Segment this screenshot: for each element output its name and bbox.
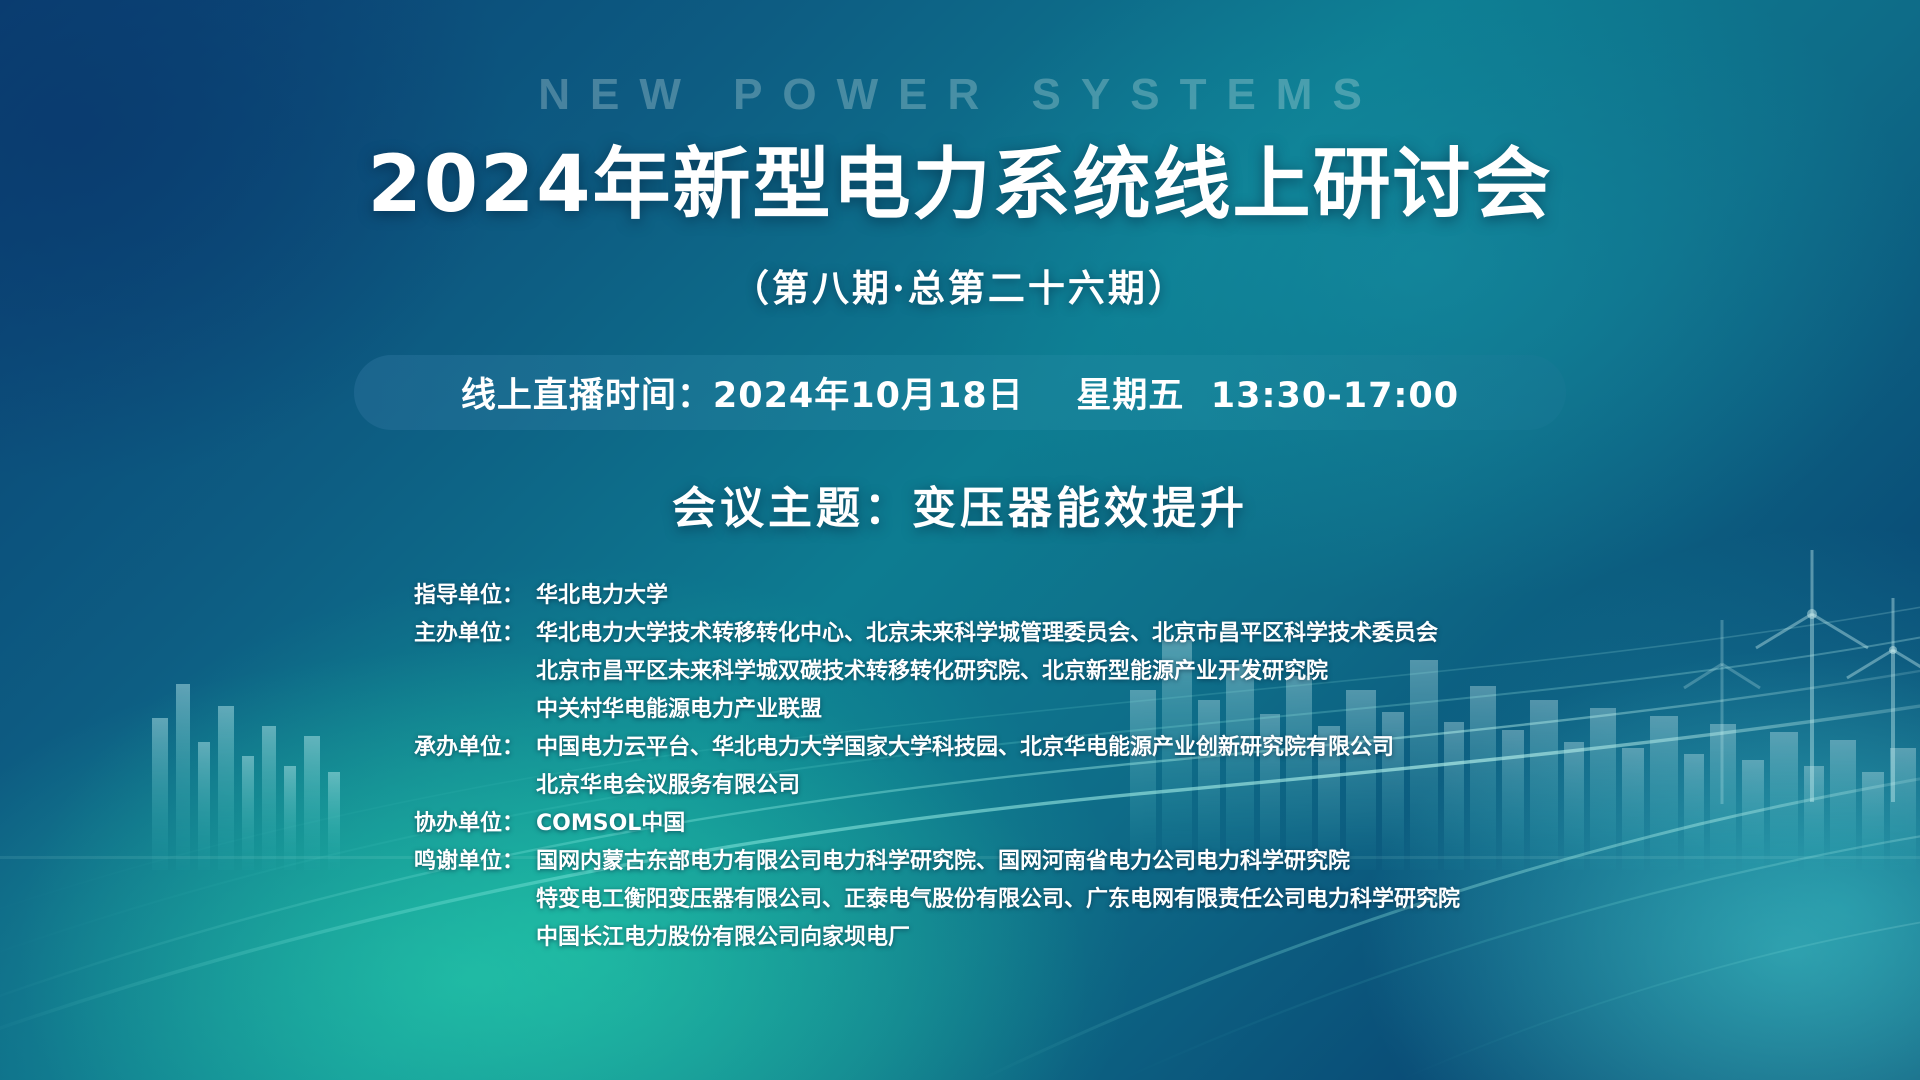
organization-row: 主办单位：北京市昌平区未来科学城双碳技术转移转化研究院、北京新型能源产业开发研究… <box>396 654 1596 690</box>
organization-label: 指导单位： <box>396 578 524 614</box>
organization-value: 华北电力大学技术转移转化中心、北京未来科学城管理委员会、北京市昌平区科学技术委员… <box>524 616 1438 652</box>
organization-row: 鸣谢单位：特变电工衡阳变压器有限公司、正泰电气股份有限公司、广东电网有限责任公司… <box>396 882 1596 918</box>
organization-value: 北京市昌平区未来科学城双碳技术转移转化研究院、北京新型能源产业开发研究院 <box>524 654 1328 690</box>
organization-value: 北京华电会议服务有限公司 <box>524 768 800 804</box>
organization-row: 主办单位：华北电力大学技术转移转化中心、北京未来科学城管理委员会、北京市昌平区科… <box>396 616 1596 652</box>
organization-value: COMSOL中国 <box>524 806 685 842</box>
edition-subtitle: （第八期·总第二十六期） <box>0 258 1920 312</box>
organization-row: 鸣谢单位：中国长江电力股份有限公司向家坝电厂 <box>396 920 1596 956</box>
organization-row: 主办单位：中关村华电能源电力产业联盟 <box>396 692 1596 728</box>
organization-label: 协办单位： <box>396 806 524 842</box>
organization-row: 承办单位：北京华电会议服务有限公司 <box>396 768 1596 804</box>
organization-label: 承办单位： <box>396 730 524 766</box>
livestream-time-banner: 线上直播时间：2024年10月18日 星期五 13:30-17:00 <box>354 355 1566 430</box>
poster-content: NEW POWER SYSTEMS 2024年新型电力系统线上研讨会 （第八期·… <box>0 0 1920 1080</box>
organization-row: 指导单位：华北电力大学 <box>396 578 1596 614</box>
organization-list: 指导单位：华北电力大学主办单位：华北电力大学技术转移转化中心、北京未来科学城管理… <box>396 578 1596 958</box>
organization-value: 中关村华电能源电力产业联盟 <box>524 692 822 728</box>
conference-theme: 会议主题：变压器能效提升 <box>0 472 1920 536</box>
conference-poster: NEW POWER SYSTEMS 2024年新型电力系统线上研讨会 （第八期·… <box>0 0 1920 1080</box>
organization-value: 中国电力云平台、华北电力大学国家大学科技园、北京华电能源产业创新研究院有限公司 <box>524 730 1394 766</box>
organization-row: 鸣谢单位：国网内蒙古东部电力有限公司电力科学研究院、国网河南省电力公司电力科学研… <box>396 844 1596 880</box>
livestream-time-text: 线上直播时间：2024年10月18日 星期五 13:30-17:00 <box>461 367 1459 418</box>
organization-label: 鸣谢单位： <box>396 844 524 880</box>
organization-value: 中国长江电力股份有限公司向家坝电厂 <box>524 920 910 956</box>
organization-value: 国网内蒙古东部电力有限公司电力科学研究院、国网河南省电力公司电力科学研究院 <box>524 844 1350 880</box>
organization-row: 承办单位：中国电力云平台、华北电力大学国家大学科技园、北京华电能源产业创新研究院… <box>396 730 1596 766</box>
eyebrow-text: NEW POWER SYSTEMS <box>0 70 1920 120</box>
organization-value: 华北电力大学 <box>524 578 668 614</box>
organization-label: 主办单位： <box>396 616 524 652</box>
organization-row: 协办单位：COMSOL中国 <box>396 806 1596 842</box>
organization-value: 特变电工衡阳变压器有限公司、正泰电气股份有限公司、广东电网有限责任公司电力科学研… <box>524 882 1460 918</box>
page-title: 2024年新型电力系统线上研讨会 <box>0 122 1920 234</box>
